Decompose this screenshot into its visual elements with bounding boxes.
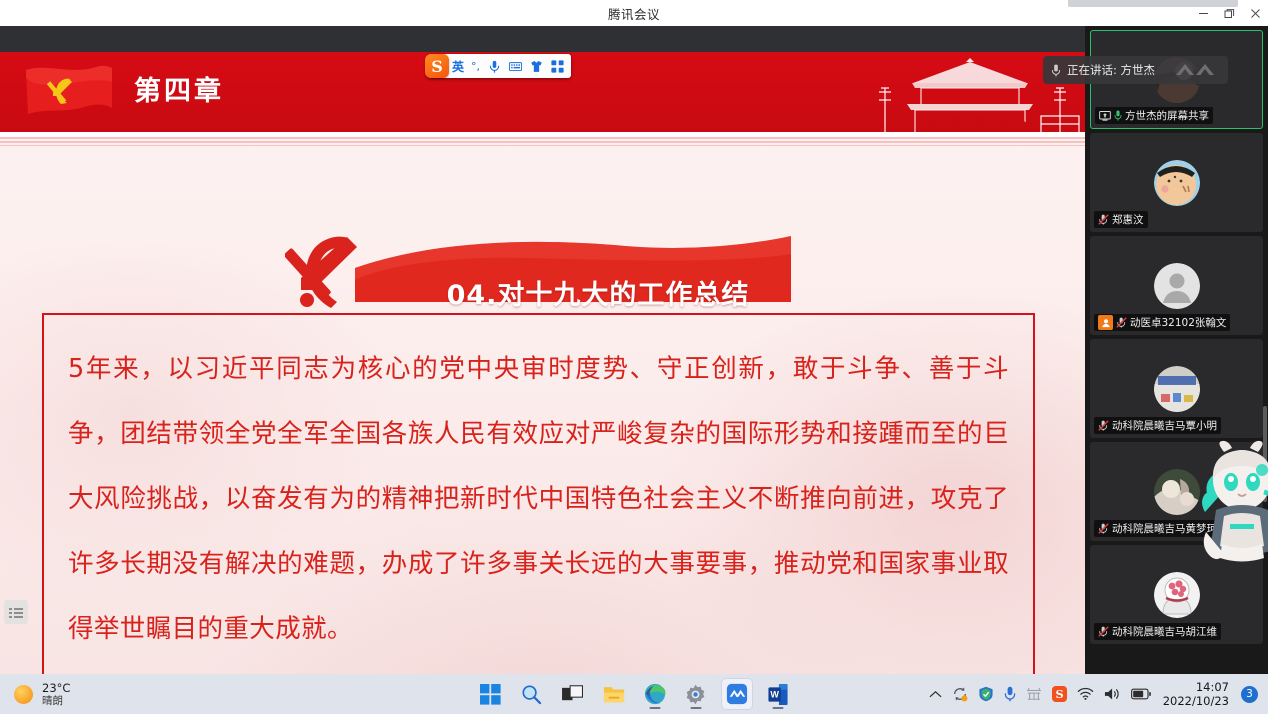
notification-badge[interactable]: 3: [1241, 686, 1258, 703]
screen-share-icon: [1099, 111, 1111, 121]
header-divider-stripes: [0, 137, 1085, 146]
ime-toolbox-icon[interactable]: [547, 54, 568, 78]
sogou-logo-icon[interactable]: S: [425, 54, 449, 78]
avatar: [1154, 469, 1200, 515]
microphone-muted-icon: [1116, 317, 1127, 328]
weather-temperature: 23°C: [42, 681, 70, 695]
avatar-default: [1154, 263, 1200, 309]
sogou-icon: S: [1052, 686, 1067, 702]
desktop-pet-mascot[interactable]: [1200, 440, 1268, 565]
volume-icon: [1104, 687, 1121, 701]
slide-chapter-title: 第四章: [134, 69, 224, 108]
presentation-slide: 第四章: [0, 52, 1085, 674]
sogou-ime-toolbar[interactable]: S 英 °,: [428, 54, 571, 78]
tray-expand-button[interactable]: [929, 690, 942, 699]
ime-soft-keyboard-icon[interactable]: [505, 54, 526, 78]
microphone-on-icon: [1114, 110, 1122, 121]
tencent-meeting-icon: [726, 683, 748, 705]
word-icon: W: [768, 684, 788, 705]
microphone-muted-icon: [1098, 420, 1109, 431]
minimize-icon: [1198, 8, 1209, 19]
microphone-muted-icon: [1098, 523, 1109, 534]
tencent-meeting-button[interactable]: [722, 679, 752, 709]
maximize-restore-button[interactable]: [1216, 0, 1242, 26]
participant-namebar-2: 动医卓32102张翰文: [1094, 314, 1230, 331]
ime-punctuation-icon[interactable]: °,: [467, 54, 484, 78]
security-shield-icon: [978, 686, 994, 702]
restore-icon: [1224, 8, 1235, 19]
participant-namebar-1: 郑惠汶: [1094, 211, 1148, 228]
participant-namebar-3: 动科院晨曦吉马覃小明: [1094, 417, 1221, 434]
tray-sync-icon[interactable]: [952, 686, 968, 702]
edge-button[interactable]: [640, 679, 670, 709]
avatar: [1154, 366, 1200, 412]
party-flag-icon: [22, 62, 116, 122]
participant-tile-3[interactable]: 动科院晨曦吉马覃小明: [1090, 339, 1263, 438]
sync-icon: [952, 686, 968, 702]
svg-text:S: S: [1055, 687, 1063, 701]
sun-icon: [14, 685, 33, 704]
svg-text:W: W: [770, 689, 779, 699]
search-icon: [521, 684, 542, 705]
ime-voice-input-icon[interactable]: [484, 54, 505, 78]
word-button[interactable]: W: [763, 679, 793, 709]
list-menu-icon: [9, 607, 23, 618]
weather-widget[interactable]: 23°C 晴朗: [0, 681, 210, 708]
host-badge-icon: [1098, 315, 1113, 330]
speaking-indicator-toast: 正在讲话: 方世杰: [1043, 56, 1228, 84]
avatar: [1154, 572, 1200, 618]
participant-tile-2[interactable]: 动医卓32102张翰文: [1090, 236, 1263, 335]
weather-description: 晴朗: [42, 695, 70, 708]
clock-time: 14:07: [1196, 680, 1229, 694]
task-view-button[interactable]: [558, 679, 588, 709]
shared-screen-viewport[interactable]: 第四章: [0, 26, 1085, 674]
file-explorer-button[interactable]: [599, 679, 629, 709]
screen-root: 腾讯会议: [0, 0, 1268, 714]
microphone-icon: [1051, 64, 1061, 77]
window-title: 腾讯会议: [608, 4, 660, 23]
tray-battery-icon[interactable]: [1131, 688, 1151, 700]
close-button[interactable]: [1242, 0, 1268, 26]
microphone-muted-icon: [1098, 214, 1109, 225]
participant-name-0: 方世杰的屏幕共享: [1125, 108, 1209, 123]
edge-icon: [644, 683, 666, 705]
tray-volume-icon[interactable]: [1104, 687, 1121, 701]
wifi-icon: [1077, 687, 1094, 701]
participant-tile-1[interactable]: 郑惠汶: [1090, 133, 1263, 232]
avatar: [1154, 160, 1200, 206]
slide-body-box: 5年来，以习近平同志为核心的党中央审时度势、守正创新，敢于斗争、善于斗争，团结带…: [42, 313, 1035, 674]
tray-security-icon[interactable]: [978, 686, 994, 702]
battery-icon: [1131, 688, 1151, 700]
settings-button[interactable]: [681, 679, 711, 709]
start-icon: [480, 684, 501, 705]
search-button[interactable]: [517, 679, 547, 709]
participant-name-1: 郑惠汶: [1112, 212, 1144, 227]
tray-ime-tool-icon[interactable]: [1026, 687, 1042, 701]
ime-tool-icon: [1026, 687, 1042, 701]
clock[interactable]: 14:07 2022/10/23: [1163, 680, 1229, 709]
system-tray[interactable]: S: [929, 674, 1268, 714]
task-view-icon: [562, 685, 583, 704]
tray-sogou-icon[interactable]: S: [1052, 686, 1067, 702]
minimize-button[interactable]: [1190, 0, 1216, 26]
tray-wifi-icon[interactable]: [1077, 687, 1094, 701]
slideshow-menu-button[interactable]: [4, 600, 28, 624]
ime-skin-icon[interactable]: [526, 54, 547, 78]
wechat-meeting-logo-icon: [1174, 61, 1220, 79]
ime-english-mode-icon[interactable]: 英: [449, 54, 467, 78]
clock-date: 2022/10/23: [1163, 694, 1229, 708]
window-title-bar: 腾讯会议: [0, 0, 1268, 26]
tray-microphone-icon[interactable]: [1004, 686, 1016, 702]
shared-desktop-top-strip: [0, 26, 1085, 52]
participant-namebar-0: 方世杰的屏幕共享: [1095, 107, 1213, 124]
chevron-up-icon: [929, 690, 942, 699]
window-controls: [1190, 0, 1268, 26]
windows-taskbar[interactable]: 23°C 晴朗: [0, 674, 1268, 714]
participant-rail[interactable]: 方世杰的屏幕共享: [1085, 26, 1268, 674]
participant-name-2: 动医卓32102张翰文: [1130, 315, 1226, 330]
participant-name-5: 动科院晨曦吉马胡江维: [1112, 624, 1217, 639]
microphone-icon: [1004, 686, 1016, 702]
slide-main-title: 04.对十九大的工作总结: [393, 273, 803, 312]
slide-body-text: 5年来，以习近平同志为核心的党中央审时度势、守正创新，敢于斗争、善于斗争，团结带…: [44, 315, 1033, 662]
participant-namebar-5: 动科院晨曦吉马胡江维: [1094, 623, 1221, 640]
start-button[interactable]: [476, 679, 506, 709]
microphone-muted-icon: [1098, 626, 1109, 637]
file-explorer-icon: [603, 685, 625, 704]
gear-icon: [685, 684, 706, 705]
speaking-indicator-label: 正在讲话: 方世杰: [1067, 62, 1155, 78]
slide-title-ribbon: 04.对十九大的工作总结: [285, 224, 800, 312]
participant-name-3: 动科院晨曦吉马覃小明: [1112, 418, 1217, 433]
close-icon: [1250, 8, 1261, 19]
hammer-sickle-emblem-icon: [285, 230, 371, 312]
